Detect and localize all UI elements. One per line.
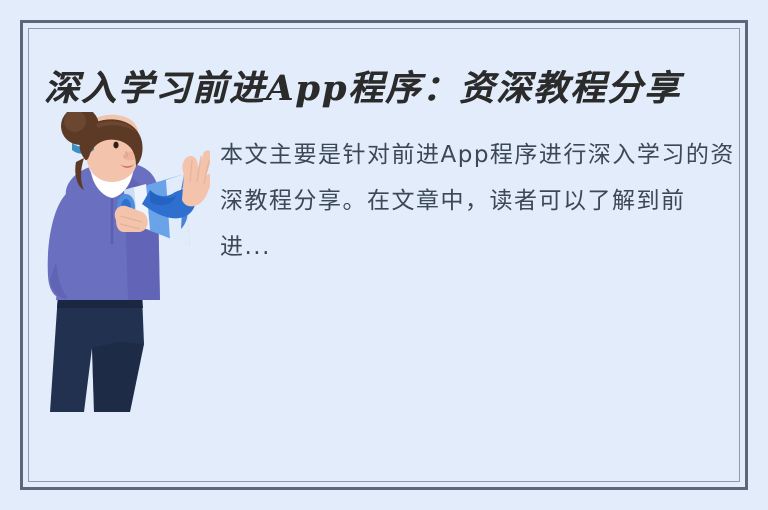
page-title: 深入学习前进App程序：资深教程分享 xyxy=(44,54,732,116)
article-excerpt: 本文主要是针对前进App程序进行深入学习的资深教程分享。在文章中，读者可以了解到… xyxy=(220,132,735,270)
article-card: 深入学习前进App程序：资深教程分享 本文主要是针对前进App程序进行深入学习的… xyxy=(0,0,768,510)
woman-with-megaphone-illustration xyxy=(32,112,210,420)
trousers-shape xyxy=(50,294,144,412)
